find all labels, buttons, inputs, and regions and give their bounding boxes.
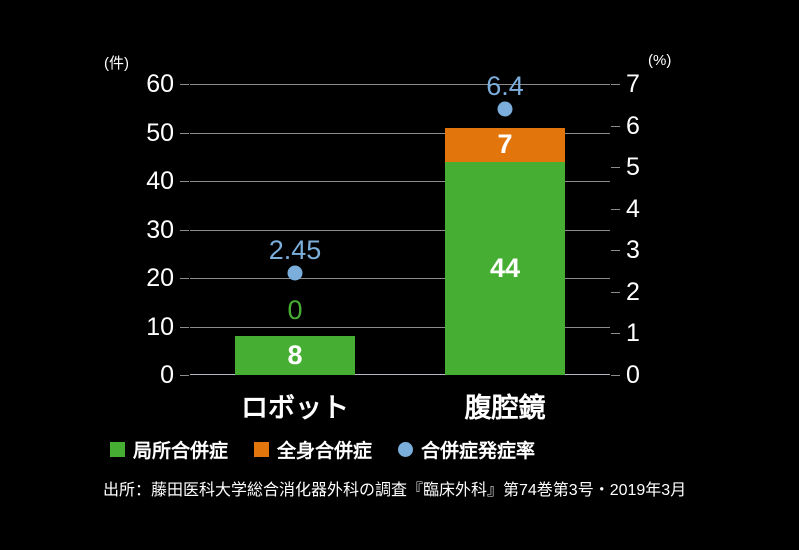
right-axis-tick (611, 126, 620, 127)
plot-area: 010203040506001234567802.454476.4 (190, 84, 610, 375)
right-axis-tick-label: 5 (626, 155, 640, 180)
left-axis-tick-label: 0 (160, 363, 174, 388)
legend-label: 局所合併症 (133, 436, 228, 463)
bar-segment-zero-label: 0 (235, 297, 355, 324)
legend-item[interactable]: 局所合併症 (110, 436, 228, 463)
right-axis-tick (611, 84, 620, 85)
right-axis-tick (611, 167, 620, 168)
bar-segment-value-label: 44 (490, 255, 520, 282)
legend-square-icon (254, 442, 269, 457)
left-axis-unit-label: (件) (104, 52, 129, 73)
legend-circle-icon (398, 442, 413, 457)
right-axis-tick-label: 6 (626, 114, 640, 139)
right-axis-tick (611, 250, 620, 251)
legend-label: 全身合併症 (277, 436, 372, 463)
legend-item[interactable]: 全身合併症 (254, 436, 372, 463)
rate-marker-dot[interactable] (498, 101, 513, 116)
left-axis-tick-label: 40 (146, 169, 174, 194)
left-axis-tick (180, 84, 189, 85)
bar-segment-value-label: 7 (497, 131, 512, 158)
rate-value-label: 2.45 (269, 237, 322, 264)
bar-segment[interactable]: 8 (235, 336, 355, 375)
right-axis-tick-label: 4 (626, 197, 640, 222)
bar-segment[interactable]: 7 (445, 128, 565, 162)
right-axis-tick (611, 375, 620, 376)
left-axis-tick (180, 375, 189, 376)
bar-segment[interactable]: 44 (445, 162, 565, 375)
left-axis-tick-label: 10 (146, 315, 174, 340)
rate-marker-dot[interactable] (288, 266, 303, 281)
chart-legend: 局所合併症全身合併症合併症発症率 (110, 436, 535, 463)
right-axis-tick-label: 7 (626, 72, 640, 97)
source-note: 出所：藤田医科大学総合消化器外科の調査『臨床外科』第74巻第3号・2019年3月 (103, 476, 686, 500)
right-axis-tick (611, 209, 620, 210)
right-axis-tick (611, 292, 620, 293)
right-axis-tick-label: 1 (626, 321, 640, 346)
left-axis-tick-label: 30 (146, 218, 174, 243)
right-axis-tick-label: 3 (626, 238, 640, 263)
category-label: 腹腔鏡 (400, 386, 610, 425)
rate-value-label: 6.4 (486, 73, 524, 100)
category-label: ロボット (190, 386, 400, 425)
left-axis-tick (180, 133, 189, 134)
left-axis-tick (180, 278, 189, 279)
chart-container: (件) (%) 010203040506001234567802.454476.… (0, 0, 799, 550)
legend-item[interactable]: 合併症発症率 (398, 436, 535, 463)
right-axis-tick-label: 0 (626, 363, 640, 388)
left-axis-tick-label: 50 (146, 121, 174, 146)
left-axis-tick (180, 181, 189, 182)
left-axis-tick-label: 60 (146, 72, 174, 97)
bar-group[interactable]: 447 (445, 84, 565, 375)
legend-label: 合併症発症率 (421, 436, 535, 463)
legend-square-icon (110, 442, 125, 457)
left-axis-tick (180, 230, 189, 231)
right-axis-tick (611, 333, 620, 334)
bar-group[interactable]: 80 (235, 84, 355, 375)
right-axis-unit-label: (%) (648, 52, 671, 69)
right-axis-tick-label: 2 (626, 280, 640, 305)
left-axis-tick-label: 20 (146, 266, 174, 291)
bar-segment-value-label: 8 (287, 342, 302, 369)
left-axis-tick (180, 327, 189, 328)
